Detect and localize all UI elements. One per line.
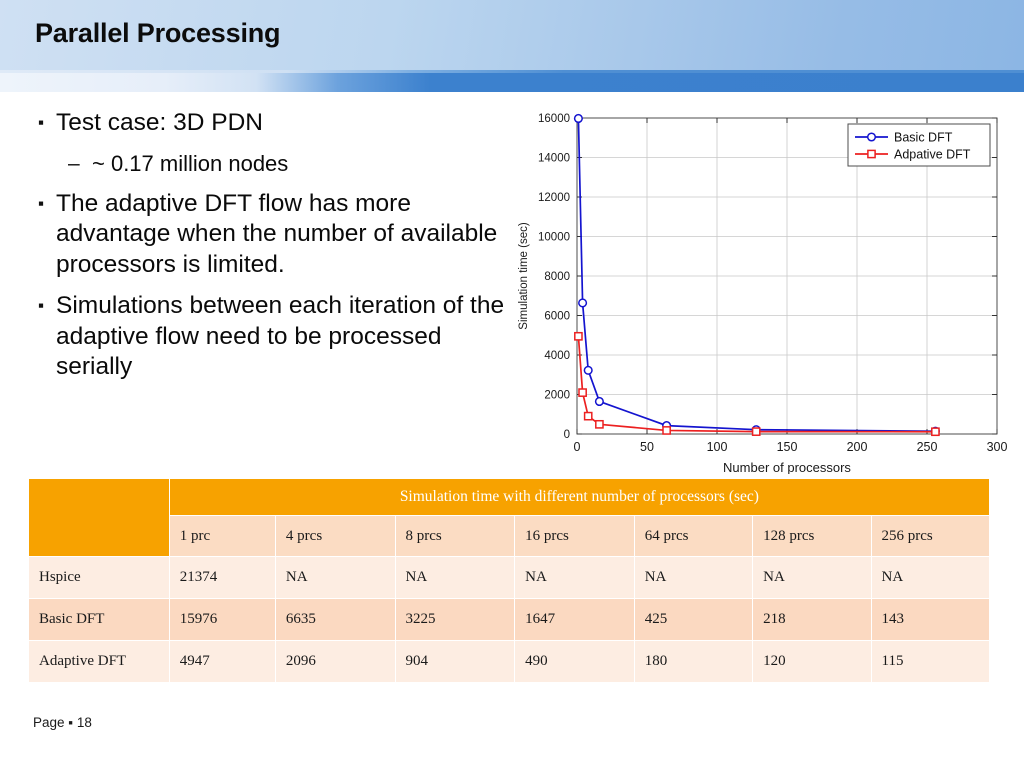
page-title: Parallel Processing xyxy=(35,18,280,49)
chart-y-tick-label: 10000 xyxy=(538,232,570,244)
chart-x-tick-label: 50 xyxy=(640,440,654,454)
chart-y-tick-label: 14000 xyxy=(538,153,570,165)
simulation-time-line-chart: 0200040006000800010000120001400016000050… xyxy=(505,104,1015,474)
chart-x-tick-label: 0 xyxy=(574,440,581,454)
table-column-header: 256 prcs xyxy=(871,516,989,557)
table-column-header: 8 prcs xyxy=(395,516,515,557)
list-item: ▪ The adaptive DFT flow has more advanta… xyxy=(38,189,518,281)
table-cell: 4947 xyxy=(169,641,275,683)
chart-legend-marker xyxy=(868,133,876,141)
table-column-header: 4 prcs xyxy=(275,516,395,557)
slide-header-accent-band xyxy=(0,70,1024,92)
slide-header-accent-highlight xyxy=(0,70,1024,73)
bullet-square-icon: ▪ xyxy=(38,108,56,138)
chart-data-point xyxy=(596,398,604,406)
table-cell: NA xyxy=(753,557,871,599)
chart-y-tick-label: 8000 xyxy=(544,271,570,283)
table-cell: NA xyxy=(275,557,395,599)
chart-legend-label: Adpative DFT xyxy=(894,148,971,162)
bullet-dash-icon: – xyxy=(68,150,92,178)
chart-data-point xyxy=(753,428,760,435)
table-header-row-top: Simulation time with different number of… xyxy=(29,479,990,516)
chart-y-axis-label: Simulation time (sec) xyxy=(518,222,530,330)
chart-y-tick-label: 6000 xyxy=(544,311,570,323)
table-cell: 21374 xyxy=(169,557,275,599)
chart-data-point xyxy=(579,389,586,396)
chart-y-tick-label: 12000 xyxy=(538,192,570,204)
list-item: ▪ Test case: 3D PDN xyxy=(38,108,518,139)
table-row-label: Basic DFT xyxy=(29,599,170,641)
chart-data-point xyxy=(932,428,939,435)
simulation-time-table: Simulation time with different number of… xyxy=(28,478,990,683)
table-cell: 6635 xyxy=(275,599,395,641)
table-cell: 490 xyxy=(515,641,635,683)
chart-y-tick-label: 2000 xyxy=(544,390,570,402)
table-cell: 143 xyxy=(871,599,989,641)
table-column-header: 128 prcs xyxy=(753,516,871,557)
chart-data-point xyxy=(575,115,583,123)
table-cell: 904 xyxy=(395,641,515,683)
chart-legend-marker xyxy=(868,150,875,157)
table-cell: 15976 xyxy=(169,599,275,641)
chart-x-tick-label: 200 xyxy=(847,440,868,454)
table-span-header: Simulation time with different number of… xyxy=(169,479,989,516)
table-cell: 218 xyxy=(753,599,871,641)
table-cell: NA xyxy=(871,557,989,599)
table-column-header: 1 prc xyxy=(169,516,275,557)
table-cell: 3225 xyxy=(395,599,515,641)
chart-x-tick-label: 150 xyxy=(777,440,798,454)
chart-y-tick-label: 4000 xyxy=(544,350,570,362)
chart-x-tick-label: 300 xyxy=(987,440,1008,454)
table-header-row-columns: 1 prc 4 prcs 8 prcs 16 prcs 64 prcs 128 … xyxy=(29,516,990,557)
list-item: – ~ 0.17 million nodes xyxy=(68,150,518,178)
chart-data-point xyxy=(575,333,582,340)
bullet-list: ▪ Test case: 3D PDN – ~ 0.17 million nod… xyxy=(38,108,518,394)
table-cell: 1647 xyxy=(515,599,635,641)
table-cell: NA xyxy=(395,557,515,599)
page-number-footer: Page ▪ 18 xyxy=(33,715,92,730)
chart-y-tick-label: 0 xyxy=(564,429,570,441)
table-cell: NA xyxy=(634,557,752,599)
chart-legend-label: Basic DFT xyxy=(894,131,953,145)
table-cell: 2096 xyxy=(275,641,395,683)
chart-data-point xyxy=(584,367,592,375)
chart-data-point xyxy=(596,421,603,428)
chart-data-point xyxy=(585,413,592,420)
chart-y-tick-label: 16000 xyxy=(538,113,570,125)
table-cell: 115 xyxy=(871,641,989,683)
chart-x-axis-label: Number of processors xyxy=(723,460,851,474)
list-item-text: ~ 0.17 million nodes xyxy=(92,150,288,178)
table-cell: 120 xyxy=(753,641,871,683)
table-row: Basic DFT 15976 6635 3225 1647 425 218 1… xyxy=(29,599,990,641)
table-cell: 425 xyxy=(634,599,752,641)
chart-x-tick-label: 250 xyxy=(917,440,938,454)
bullet-square-icon: ▪ xyxy=(38,189,56,219)
bullet-square-icon: ▪ xyxy=(38,291,56,321)
list-item-text: The adaptive DFT flow has more advantage… xyxy=(56,189,518,281)
list-item-text: Test case: 3D PDN xyxy=(56,108,263,139)
table-cell: 180 xyxy=(634,641,752,683)
chart-x-tick-label: 100 xyxy=(707,440,728,454)
table-corner-cell xyxy=(29,479,170,557)
chart-data-point xyxy=(579,299,587,307)
table-row: Adaptive DFT 4947 2096 904 490 180 120 1… xyxy=(29,641,990,683)
table-row-label: Hspice xyxy=(29,557,170,599)
table-column-header: 16 prcs xyxy=(515,516,635,557)
table-column-header: 64 prcs xyxy=(634,516,752,557)
chart-canvas: 0200040006000800010000120001400016000050… xyxy=(505,104,1015,474)
list-item: ▪ Simulations between each iteration of … xyxy=(38,291,518,383)
chart-data-point xyxy=(663,427,670,434)
table-row-label: Adaptive DFT xyxy=(29,641,170,683)
table-row: Hspice 21374 NA NA NA NA NA NA xyxy=(29,557,990,599)
list-item-text: Simulations between each iteration of th… xyxy=(56,291,518,383)
table-cell: NA xyxy=(515,557,635,599)
